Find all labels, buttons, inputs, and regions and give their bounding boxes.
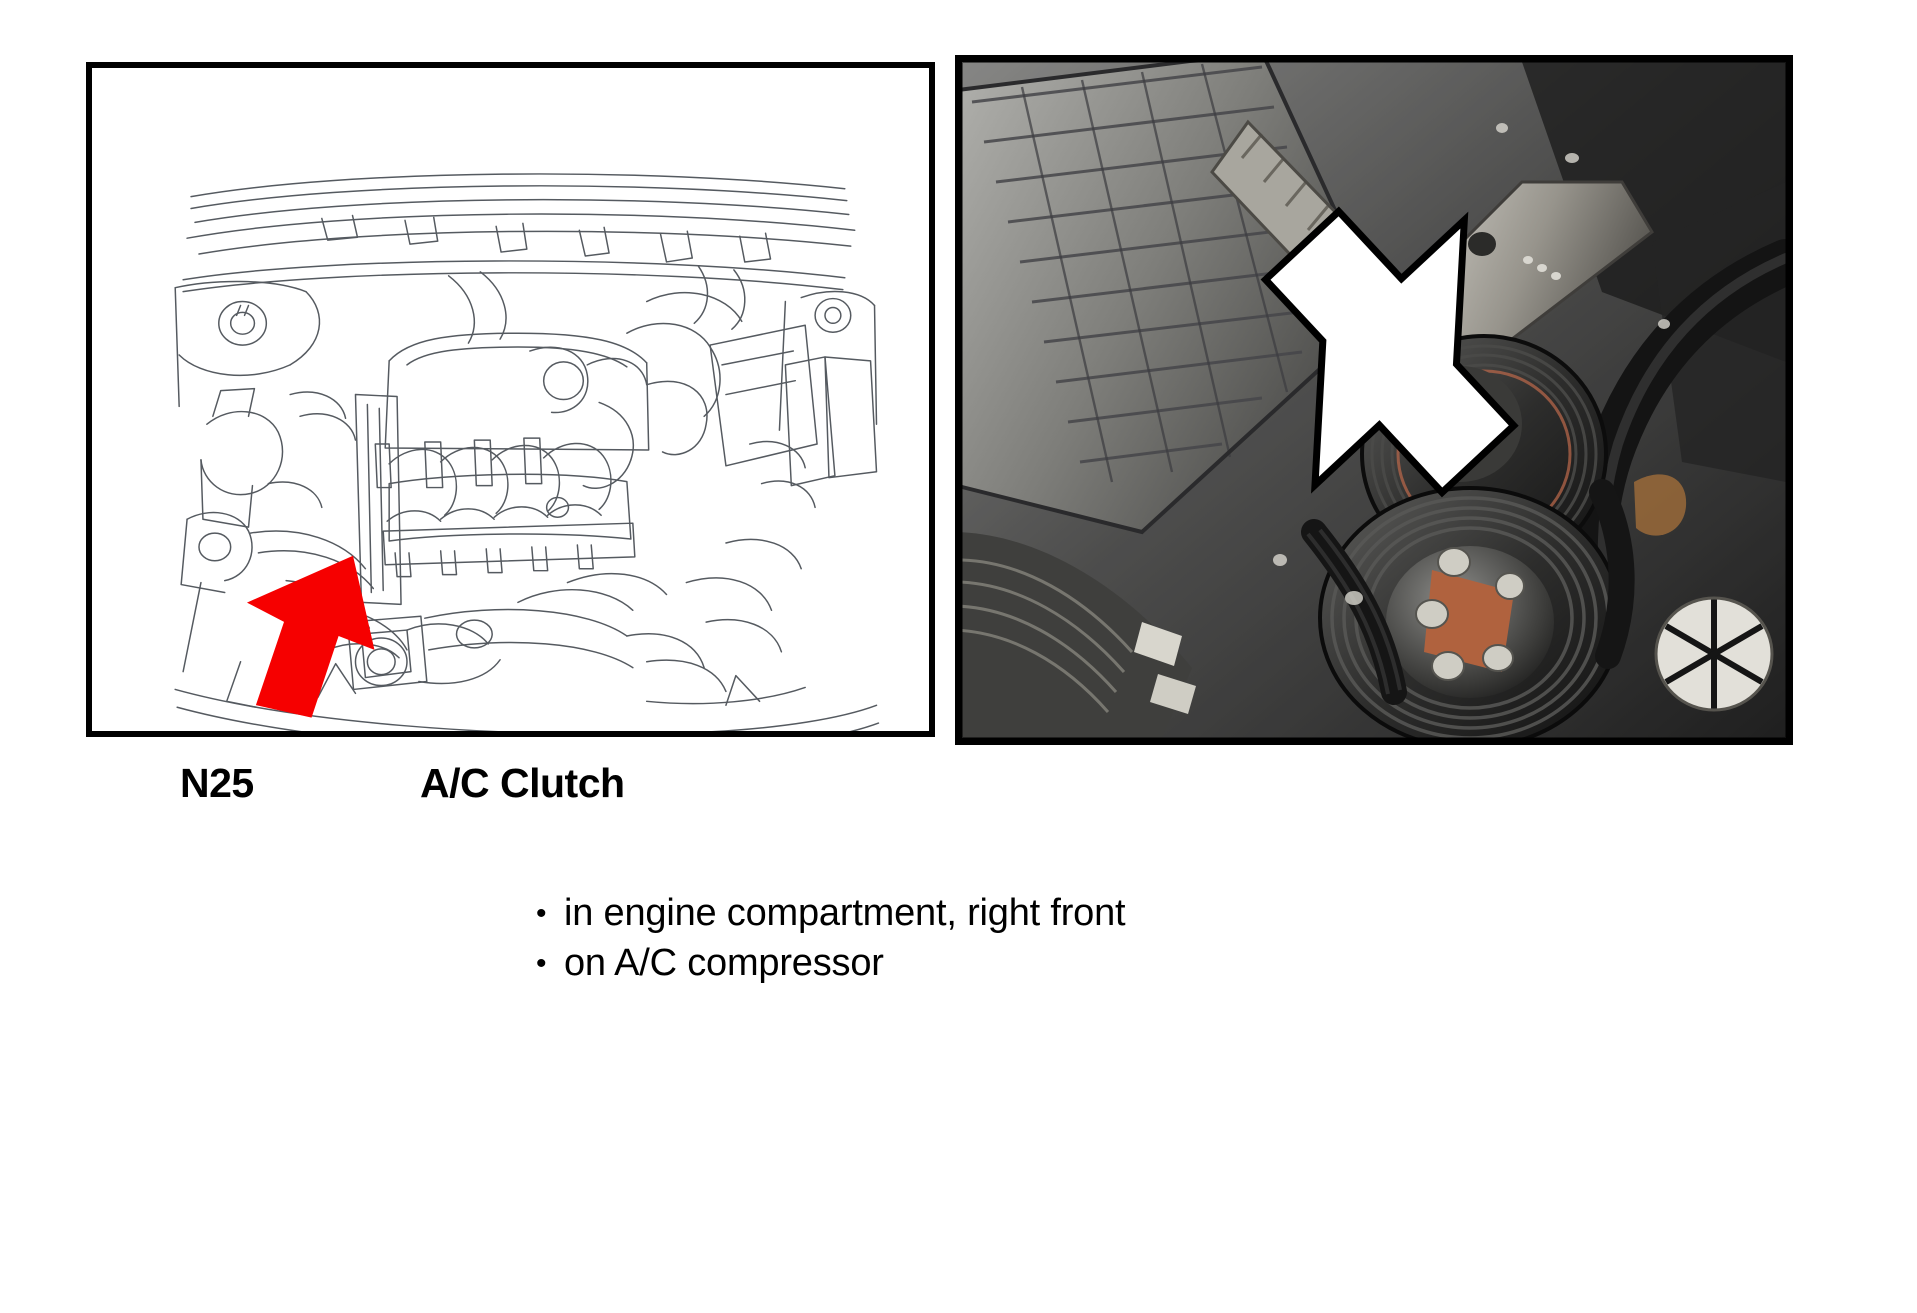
note-text: in engine compartment, right front <box>564 892 1125 934</box>
bullet-icon: • <box>536 894 564 934</box>
list-item: •in engine compartment, right front <box>536 888 1125 938</box>
photo-panel <box>955 55 1793 745</box>
engine-photo-illustration <box>962 62 1786 738</box>
location-notes-list: •in engine compartment, right front •on … <box>536 888 1125 988</box>
component-name: A/C Clutch <box>420 760 625 807</box>
list-item: •on A/C compressor <box>536 938 1125 988</box>
diagram-image <box>92 68 929 731</box>
compressor-photo <box>962 62 1786 738</box>
component-caption-row: N25 A/C Clutch <box>0 760 1917 820</box>
diagram-panel <box>86 62 935 737</box>
bullet-icon: • <box>536 944 564 984</box>
note-text: on A/C compressor <box>564 942 884 984</box>
component-id: N25 <box>180 760 254 807</box>
engine-bay-line-drawing <box>92 68 929 731</box>
